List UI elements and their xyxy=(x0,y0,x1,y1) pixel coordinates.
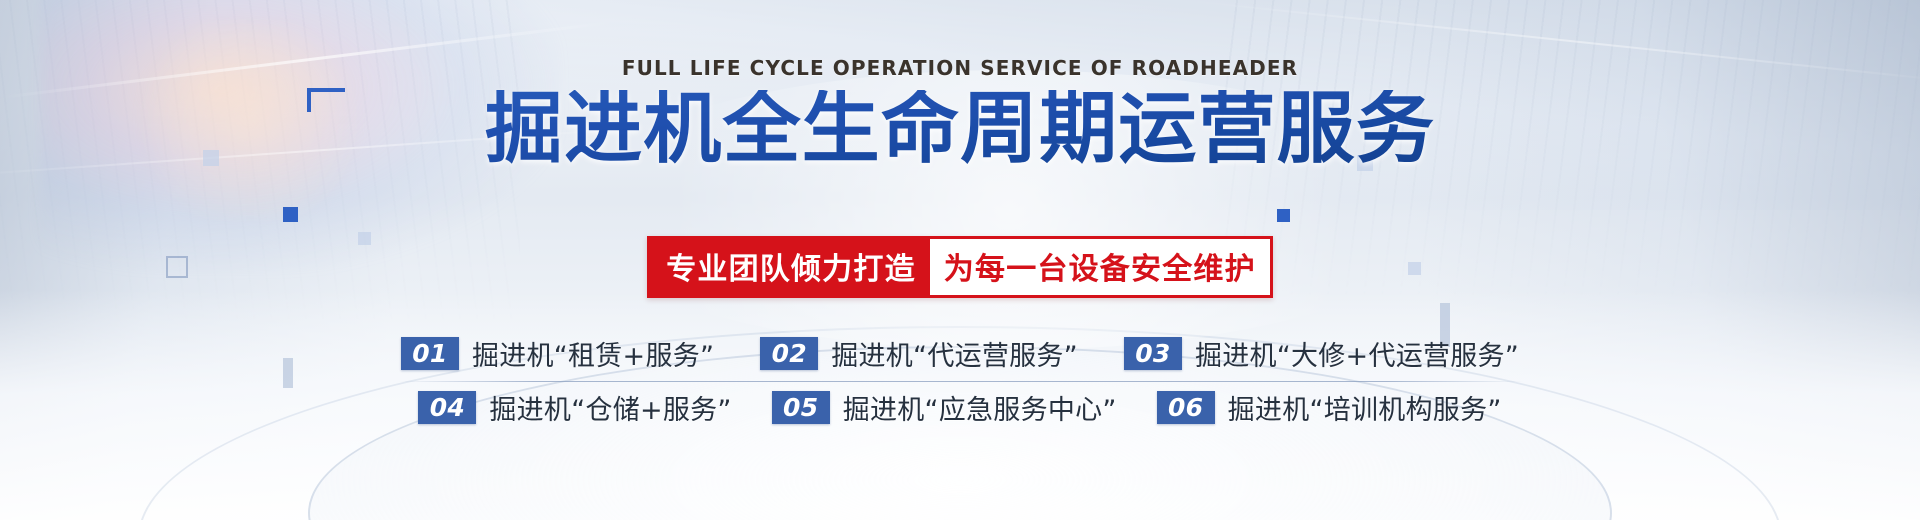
service-number-badge: 03 xyxy=(1124,337,1182,370)
service-item-04[interactable]: 04 掘进机“仓储+服务” xyxy=(418,388,731,427)
service-label: 掘进机“应急服务中心” xyxy=(843,388,1117,427)
page-title: 掘进机全生命周期运营服务 xyxy=(485,90,1435,170)
tagline-banner: 专业团队倾力打造 为每一台设备安全维护 xyxy=(647,236,1273,298)
banner-eyebrow: FULL LIFE CYCLE OPERATION SERVICE OF ROA… xyxy=(622,56,1298,80)
service-item-02[interactable]: 02 掘进机“代运营服务” xyxy=(760,334,1078,373)
service-label: 掘进机“仓储+服务” xyxy=(489,388,731,427)
tagline-secondary: 为每一台设备安全维护 xyxy=(930,239,1270,295)
service-label: 掘进机“大修+代运营服务” xyxy=(1195,334,1519,373)
service-number-badge: 05 xyxy=(772,391,830,424)
banner-content: FULL LIFE CYCLE OPERATION SERVICE OF ROA… xyxy=(0,0,1920,520)
service-number-badge: 01 xyxy=(401,337,459,370)
service-label: 掘进机“代运营服务” xyxy=(831,334,1078,373)
tagline-primary: 专业团队倾力打造 xyxy=(650,239,930,295)
service-label: 掘进机“培训机构服务” xyxy=(1228,388,1502,427)
service-row-2: 04 掘进机“仓储+服务” 05 掘进机“应急服务中心” 06 掘进机“培训机构… xyxy=(380,382,1540,435)
roadheader-hero-banner: FULL LIFE CYCLE OPERATION SERVICE OF ROA… xyxy=(0,0,1920,520)
service-item-06[interactable]: 06 掘进机“培训机构服务” xyxy=(1157,388,1502,427)
service-number-badge: 02 xyxy=(760,337,818,370)
service-number-badge: 04 xyxy=(418,391,476,424)
service-label: 掘进机“租赁+服务” xyxy=(472,334,714,373)
service-item-01[interactable]: 01 掘进机“租赁+服务” xyxy=(401,334,714,373)
service-number-badge: 06 xyxy=(1157,391,1215,424)
service-list: 01 掘进机“租赁+服务” 02 掘进机“代运营服务” 03 掘进机“大修+代运… xyxy=(380,328,1540,435)
service-item-03[interactable]: 03 掘进机“大修+代运营服务” xyxy=(1124,334,1519,373)
service-item-05[interactable]: 05 掘进机“应急服务中心” xyxy=(772,388,1117,427)
service-row-1: 01 掘进机“租赁+服务” 02 掘进机“代运营服务” 03 掘进机“大修+代运… xyxy=(380,328,1540,381)
